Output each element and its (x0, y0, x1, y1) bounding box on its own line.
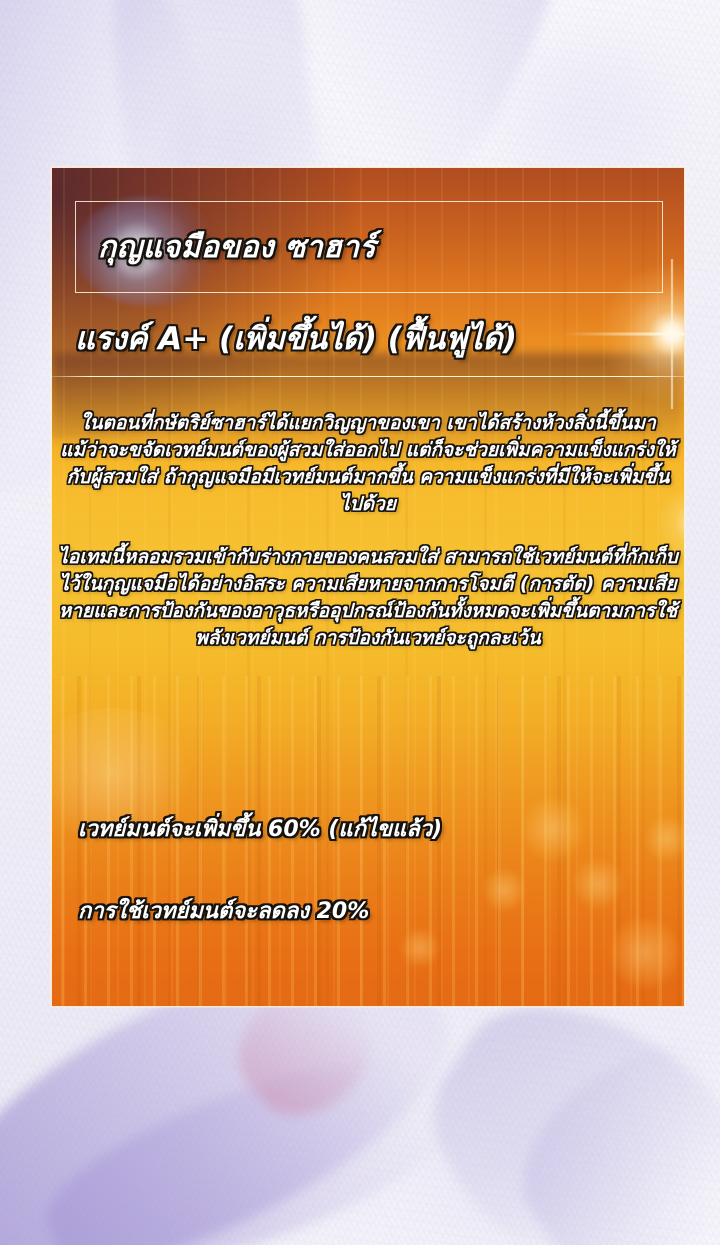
card-content: กุญแจมือของ ซาฮาร์ แรงค์ A+ (เพิ่มขึ้นได… (52, 168, 684, 1006)
section-divider (52, 376, 684, 377)
description-paragraph: ในตอนที่กษัตริย์ซาฮาร์ได้แยกวิญญาของเขา … (52, 410, 684, 518)
stat-line: การใช้เวทย์มนต์จะลดลง 20% (78, 898, 664, 926)
item-rank-line: แรงค์ A+ (เพิ่มขึ้นได้) (ฟื้นฟูได้) (75, 313, 675, 363)
title-frame: กุญแจมือของ ซาฮาร์ (75, 201, 663, 293)
description-body: ในตอนที่กษัตริย์ซาฮาร์ได้แยกวิญญาของเขา … (52, 410, 684, 652)
skill-description-card: กุญแจมือของ ซาฮาร์ แรงค์ A+ (เพิ่มขึ้นได… (51, 167, 685, 1007)
item-title: กุญแจมือของ ซาฮาร์ (76, 231, 376, 264)
background-blotch-3 (380, 1080, 680, 1245)
stat-line: เวทย์มนต์จะเพิ่มขึ้น 60% (แก้ไขแล้ว) (78, 816, 664, 844)
description-paragraph: ไอเทมนี้หลอมรวมเข้ากับร่างกายของคนสวมใส่… (52, 544, 684, 652)
stat-list: เวทย์มนต์จะเพิ่มขึ้น 60% (แก้ไขแล้ว) การ… (78, 816, 664, 925)
comic-panel-page: กุญแจมือของ ซาฮาร์ แรงค์ A+ (เพิ่มขึ้นได… (0, 0, 720, 1245)
